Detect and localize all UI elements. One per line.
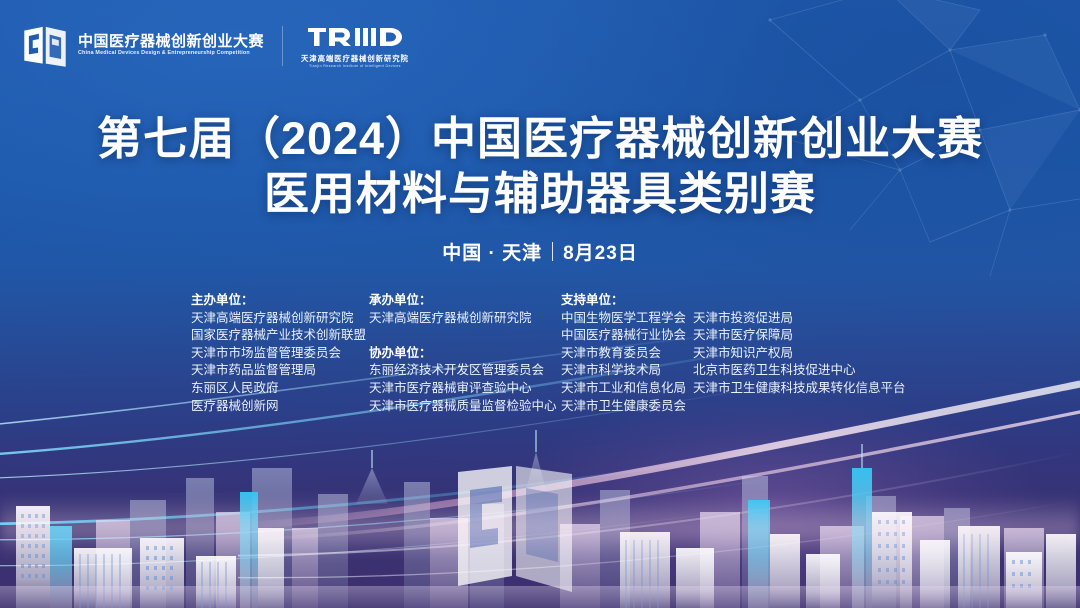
- supporter-item: 天津市知识产权局: [693, 345, 889, 363]
- supporter-item: 北京市医药卫生科技促进中心: [693, 362, 889, 380]
- co-organizer-item: 天津市医疗器械审评查验中心: [369, 380, 561, 398]
- open-door-logo-icon: [22, 25, 68, 67]
- organizers-column-host: 主办单位： 天津高端医疗器械创新研究院 国家医疗器械产业技术创新联盟 天津市市场…: [191, 292, 369, 415]
- institute-brand: 天津高端医疗器械创新研究院 Tianjin Research Institute…: [301, 22, 409, 69]
- organizers-column-organizer: 承办单位： 天津高端医疗器械创新研究院 协办单位： 东丽经济技术开发区管理委员会…: [369, 292, 561, 415]
- supporter-item: 天津市卫生健康科技成果转化信息平台: [693, 380, 889, 398]
- supporter-item: 中国医疗器械行业协会: [561, 327, 693, 345]
- title-block: 第七届（2024）中国医疗器械创新创业大赛 医用材料与辅助器具类别赛 中国 · …: [0, 112, 1080, 265]
- main-title-line-2: 医用材料与辅助器具类别赛: [0, 167, 1080, 220]
- host-item: 医疗器械创新网: [191, 398, 369, 416]
- subtitle-separator: [552, 242, 553, 261]
- header-logos: 中国医疗器械创新创业大赛 China Medical Devices Desig…: [22, 22, 409, 69]
- supporter-item: 中国生物医学工程学会: [561, 310, 693, 328]
- column-spacer: [369, 327, 561, 345]
- host-item: 国家医疗器械产业技术创新联盟: [191, 327, 369, 345]
- competition-name-en: China Medical Devices Design & Entrepren…: [78, 51, 264, 57]
- header-divider: [282, 26, 283, 66]
- event-date: 8月23日: [563, 238, 638, 265]
- competition-brand: 中国医疗器械创新创业大赛 China Medical Devices Desig…: [22, 25, 264, 67]
- supporter-item: 天津市卫生健康委员会: [561, 398, 693, 416]
- co-organizer-item: 东丽经济技术开发区管理委员会: [369, 362, 561, 380]
- host-item: 东丽区人民政府: [191, 380, 369, 398]
- supporter-item: 天津市投资促进局: [693, 310, 889, 328]
- organizers-column-supporter-a: 支持单位： 中国生物医学工程学会 中国医疗器械行业协会 天津市教育委员会 天津市…: [561, 292, 693, 415]
- co-organizer-heading: 协办单位：: [369, 345, 561, 363]
- institute-name-cn: 天津高端医疗器械创新研究院: [301, 55, 409, 62]
- institute-name-en: Tianjin Research Institute of Intelligen…: [309, 65, 401, 69]
- organizer-item: 天津高端医疗器械创新研究院: [369, 310, 561, 328]
- host-item: 天津高端医疗器械创新研究院: [191, 310, 369, 328]
- organizer-heading: 承办单位：: [369, 292, 561, 310]
- event-poster: 中国医疗器械创新创业大赛 China Medical Devices Desig…: [0, 0, 1080, 608]
- event-location: 中国 · 天津: [442, 238, 542, 265]
- host-item: 天津市药品监督管理局: [191, 362, 369, 380]
- supporter-item: 天津市医疗保障局: [693, 327, 889, 345]
- triid-wordmark-icon: [307, 22, 403, 52]
- supporter-item: 天津市工业和信息化局: [561, 380, 693, 398]
- co-organizer-item: 天津市医疗器械质量监督检验中心: [369, 398, 561, 416]
- organizers-block: 主办单位： 天津高端医疗器械创新研究院 国家医疗器械产业技术创新联盟 天津市市场…: [0, 292, 1080, 415]
- host-heading: 主办单位：: [191, 292, 369, 310]
- supporter-item: 天津市科学技术局: [561, 362, 693, 380]
- host-item: 天津市市场监督管理委员会: [191, 345, 369, 363]
- main-title-line-1: 第七届（2024）中国医疗器械创新创业大赛: [0, 112, 1080, 165]
- organizers-column-supporter-b: 天津市投资促进局 天津市医疗保障局 天津市知识产权局 北京市医药卫生科技促进中心…: [693, 292, 889, 398]
- supporter-item: 天津市教育委员会: [561, 345, 693, 363]
- competition-brand-text: 中国医疗器械创新创业大赛 China Medical Devices Desig…: [78, 34, 264, 56]
- competition-name-cn: 中国医疗器械创新创业大赛: [78, 34, 264, 49]
- subtitle-location-date: 中国 · 天津 8月23日: [0, 238, 1080, 265]
- skyline-ground-glow: [0, 496, 1080, 556]
- supporter-heading: 支持单位：: [561, 292, 693, 310]
